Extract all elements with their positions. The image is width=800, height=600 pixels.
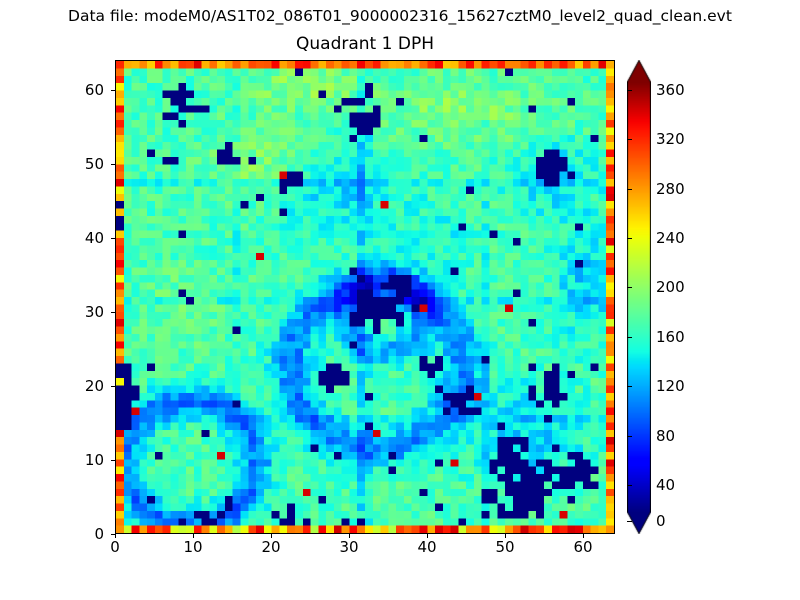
y-tick-label: 0 bbox=[44, 525, 104, 543]
y-tick-mark bbox=[111, 460, 115, 461]
x-tick-label: 10 bbox=[163, 538, 223, 556]
y-tick-label: 50 bbox=[44, 155, 104, 173]
x-tick-label: 50 bbox=[475, 538, 535, 556]
colorbar-tick-mark bbox=[627, 238, 632, 239]
colorbar-tick-label: 80 bbox=[656, 427, 675, 445]
y-tick-mark bbox=[111, 312, 115, 313]
colorbar-tick-label: 0 bbox=[656, 512, 666, 530]
y-tick-label: 60 bbox=[44, 81, 104, 99]
data-file-suptitle: Data file: modeM0/AS1T02_086T01_90000023… bbox=[0, 6, 800, 26]
colorbar-tick-label: 240 bbox=[656, 229, 685, 247]
colorbar-gradient bbox=[627, 60, 651, 534]
y-tick-mark bbox=[111, 90, 115, 91]
colorbar-tick-mark bbox=[627, 521, 632, 522]
colorbar-tick-mark bbox=[627, 139, 632, 140]
colorbar-tick-mark bbox=[627, 485, 632, 486]
colorbar-tick-mark bbox=[627, 386, 632, 387]
x-tick-label: 60 bbox=[553, 538, 613, 556]
y-tick-label: 40 bbox=[44, 229, 104, 247]
y-tick-label: 10 bbox=[44, 451, 104, 469]
x-tick-label: 30 bbox=[319, 538, 379, 556]
colorbar[interactable] bbox=[627, 60, 651, 534]
y-tick-mark bbox=[111, 386, 115, 387]
heatmap-axes[interactable] bbox=[115, 60, 615, 534]
y-tick-mark bbox=[111, 164, 115, 165]
colorbar-tick-mark bbox=[627, 287, 632, 288]
y-tick-label: 30 bbox=[44, 303, 104, 321]
colorbar-tick-label: 200 bbox=[656, 278, 685, 296]
y-tick-mark bbox=[111, 534, 115, 535]
colorbar-tick-label: 160 bbox=[656, 328, 685, 346]
y-tick-label: 20 bbox=[44, 377, 104, 395]
page-title: Quadrant 1 DPH bbox=[115, 34, 615, 55]
colorbar-tick-mark bbox=[627, 436, 632, 437]
colorbar-tick-label: 360 bbox=[656, 81, 685, 99]
colorbar-tick-label: 40 bbox=[656, 476, 675, 494]
colorbar-tick-mark bbox=[627, 189, 632, 190]
x-tick-label: 20 bbox=[241, 538, 301, 556]
x-tick-label: 40 bbox=[397, 538, 457, 556]
figure-canvas: Data file: modeM0/AS1T02_086T01_90000023… bbox=[0, 0, 800, 600]
colorbar-tick-mark bbox=[627, 337, 632, 338]
colorbar-tick-label: 120 bbox=[656, 377, 685, 395]
colorbar-tick-label: 320 bbox=[656, 130, 685, 148]
colorbar-tick-mark bbox=[627, 90, 632, 91]
y-tick-mark bbox=[111, 238, 115, 239]
detector-pixel-heatmap[interactable] bbox=[116, 61, 614, 533]
colorbar-tick-label: 280 bbox=[656, 180, 685, 198]
